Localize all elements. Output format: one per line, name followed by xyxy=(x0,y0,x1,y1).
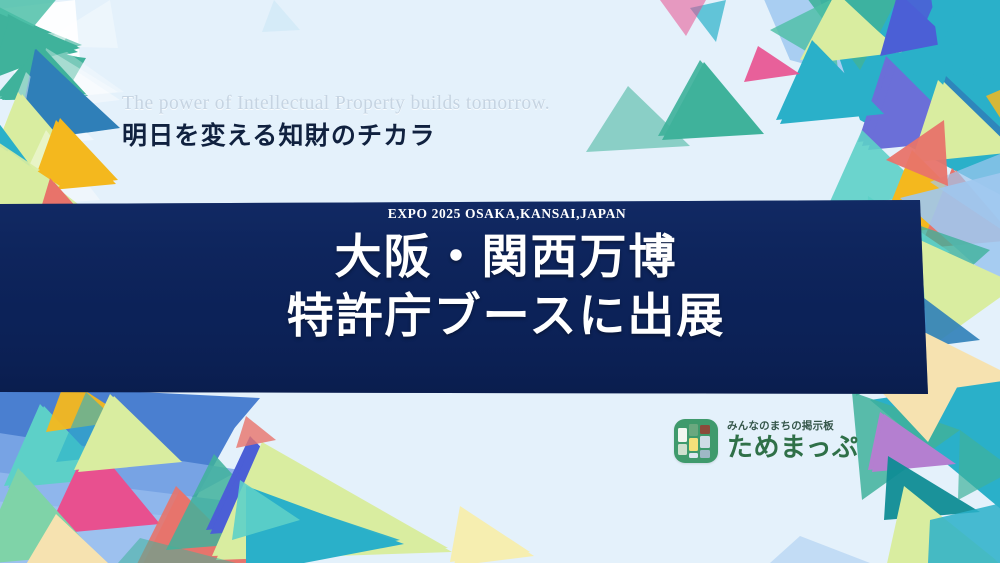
app-icon-tile-6 xyxy=(700,436,710,448)
triangle-confetti-background xyxy=(0,0,1000,563)
brand-name: ためまっぷ xyxy=(727,435,858,461)
app-icon-tile-1 xyxy=(678,444,687,455)
tagline-block: The power of Intellectual Property build… xyxy=(122,92,742,153)
app-icon-tile-5 xyxy=(700,425,710,434)
tamemap-app-icon xyxy=(674,419,718,463)
tagline-english: The power of Intellectual Property build… xyxy=(122,92,742,116)
expo-announcement-poster: The power of Intellectual Property build… xyxy=(0,0,1000,563)
brand-words: みんなのまちの掲示板 ためまっぷ xyxy=(727,421,858,461)
brand-lockup[interactable]: みんなのまちの掲示板 ためまっぷ xyxy=(674,419,858,463)
app-icon-tile-7 xyxy=(700,450,710,458)
brand-tagline: みんなのまちの掲示板 xyxy=(727,421,858,432)
app-icon-tile-2 xyxy=(689,424,698,436)
app-icon-tile-4 xyxy=(689,453,698,458)
tagline-japanese: 明日を変える知財のチカラ xyxy=(122,120,742,153)
app-icon-tile-3 xyxy=(689,438,698,451)
app-icon-tile-0 xyxy=(678,428,687,442)
